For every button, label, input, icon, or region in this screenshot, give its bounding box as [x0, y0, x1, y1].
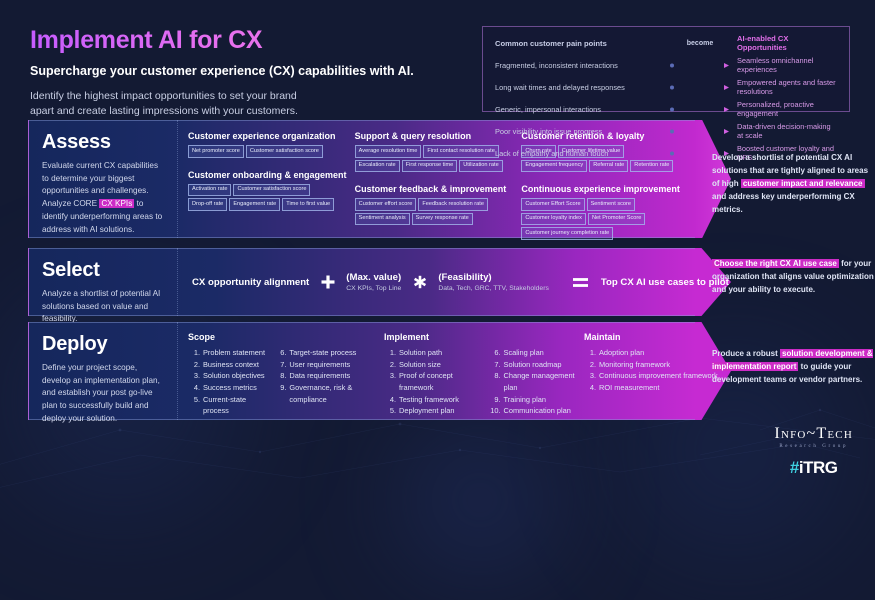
group-tag-list: Customer effort score Feedback resolutio…	[355, 198, 516, 225]
select-stage-description: Analyze a shortlist of potential AI solu…	[42, 288, 163, 326]
assess-desc-highlight: CX KPIs	[99, 199, 134, 208]
kpi-tag[interactable]: Customer journey completion rate	[521, 227, 613, 240]
pain-points-header-middle: become	[663, 40, 737, 47]
list-item: 5.Current-state process	[188, 394, 268, 417]
list-item-label: Success metrics	[203, 382, 257, 394]
select-callout-text: Choose the right CX AI use case for your…	[712, 258, 874, 297]
formula-term-2-label: (Max. value)	[346, 272, 401, 283]
page-title: Implement AI for CX	[30, 26, 414, 55]
list-item-label: Scaling plan	[504, 347, 544, 359]
list-item-label: Training plan	[504, 394, 546, 406]
list-item-number: 4.	[188, 382, 200, 394]
list-item-label: Solution roadmap	[504, 359, 562, 371]
assess-callout-highlight: customer impact and relevance	[741, 179, 865, 188]
list-item: 6.Scaling plan	[489, 347, 584, 359]
deploy-column-implement: Implement 1.Solution path 2.Solution siz…	[384, 332, 584, 414]
deploy-callout-text: Produce a robust solution development & …	[712, 348, 874, 387]
select-stage-name: Select	[42, 259, 163, 282]
deploy-stage-name: Deploy	[42, 333, 163, 356]
group-tag-list: Net promoter score Customer satisfaction…	[188, 145, 349, 158]
equals-icon	[573, 275, 588, 290]
kpi-tag[interactable]: Feedback resolution rate	[418, 198, 488, 211]
assess-callout: Develop a shortlist of potential CX AI s…	[712, 152, 874, 217]
opportunity-label: Seamless omnichannel experiences	[737, 54, 837, 74]
list-item-label: Data requirements	[289, 370, 350, 382]
list-item-label: User requirements	[289, 359, 350, 371]
kpi-tag[interactable]: First response time	[402, 160, 458, 173]
kpi-tag[interactable]: Drop-off rate	[188, 198, 227, 211]
kpi-tag[interactable]: Sentiment score	[587, 198, 635, 211]
list-item-label: Problem statement	[203, 347, 265, 359]
become-arrow-icon	[663, 104, 737, 113]
stage-band-select: Select Analyze a shortlist of potential …	[28, 248, 696, 316]
list-item-number: 3.	[188, 370, 200, 382]
list-item: 2.Business context	[188, 359, 268, 371]
stage-band-deploy: Deploy Define your project scope, develo…	[28, 322, 696, 420]
deploy-scope-lists: 1.Problem statement 2.Business context 3…	[188, 347, 384, 417]
kpi-tag[interactable]: First contact resolution rate	[423, 145, 498, 158]
list-item: 5.Deployment plan	[384, 405, 483, 417]
list-item-number: 2.	[584, 359, 596, 371]
assess-group-column-1: Customer experience organization Net pro…	[188, 131, 355, 230]
pain-point-label: Generic, impersonal interactions	[495, 103, 663, 114]
list-item-label: Governance, risk & compliance	[289, 382, 384, 405]
select-formula: CX opportunity alignment (Max. value) CX…	[178, 248, 696, 316]
formula-term-1: CX opportunity alignment	[192, 277, 309, 288]
page-description: Identify the highest impact opportunitie…	[30, 89, 414, 119]
list-item-number: 7.	[274, 359, 286, 371]
list-item-label: Deployment plan	[399, 405, 454, 417]
page-description-line2: apart and create lasting impressions wit…	[30, 105, 298, 117]
list-item-label: Current-state process	[203, 394, 268, 417]
itrg-logo-name: iTRG	[799, 458, 838, 477]
pain-points-header-right: AI-enabled CX Opportunities	[737, 34, 837, 52]
list-item-number: 9.	[489, 394, 501, 406]
list-item-number: 1.	[384, 347, 396, 359]
assess-callout-part2: and address key underperforming CX metri…	[712, 192, 855, 214]
page-subtitle: Supercharge your customer experience (CX…	[30, 64, 414, 78]
deploy-implement-list-left: 1.Solution path 2.Solution size 3.Proof …	[384, 347, 483, 417]
select-callout-highlight: Choose the right CX AI use case	[712, 259, 839, 268]
deploy-callout: Produce a robust solution development & …	[712, 348, 874, 387]
list-item: 2.Monitoring framework	[584, 359, 718, 371]
list-item-number: 4.	[584, 382, 596, 394]
list-item-label: Continuous improvement framework	[599, 370, 718, 382]
list-item-label: Target-state process	[289, 347, 356, 359]
opportunity-label: Data-driven decision-making at scale	[737, 120, 837, 140]
itrg-logo-hash: #	[790, 458, 799, 477]
kpi-tag[interactable]: Time to first value	[282, 198, 334, 211]
group-title: Customer onboarding & engagement	[188, 170, 349, 180]
list-item-number: 5.	[188, 394, 200, 417]
pain-point-label: Fragmented, inconsistent interactions	[495, 59, 663, 70]
list-item-label: ROI measurement	[599, 382, 659, 394]
kpi-tag[interactable]: Sentiment analysis	[355, 213, 410, 226]
list-item-label: Business context	[203, 359, 259, 371]
deploy-implement-list-right: 6.Scaling plan 7.Solution roadmap 8.Chan…	[489, 347, 584, 417]
list-item-label: Proof of concept framework	[399, 370, 483, 393]
group-title: Continuous experience improvement	[521, 184, 682, 194]
deploy-maintain-list: 1.Adoption plan 2.Monitoring framework 3…	[584, 347, 718, 394]
list-item: 3.Solution objectives	[188, 370, 268, 382]
page-header: Implement AI for CX Supercharge your cus…	[30, 26, 414, 119]
deploy-column-title: Implement	[384, 332, 584, 342]
plus-icon	[320, 275, 335, 290]
list-item-number: 3.	[584, 370, 596, 382]
kpi-tag[interactable]: Customer effort score	[355, 198, 417, 211]
list-item-label: Solution size	[399, 359, 441, 371]
list-item: 3.Proof of concept framework	[384, 370, 483, 393]
page-description-line1: Identify the highest impact opportunitie…	[30, 90, 297, 102]
pain-point-label: Long wait times and delayed responses	[495, 81, 663, 92]
select-stage-column: Select Analyze a shortlist of potential …	[28, 248, 178, 316]
pain-points-grid: Common customer pain points become AI-en…	[495, 34, 837, 162]
deploy-stage-description: Define your project scope, develop an im…	[42, 362, 163, 426]
list-item-label: Adoption plan	[599, 347, 644, 359]
pain-points-panel: Common customer pain points become AI-en…	[482, 26, 850, 112]
select-callout: Choose the right CX AI use case for your…	[712, 258, 874, 297]
kpi-tag[interactable]: Customer satisfaction score	[246, 145, 323, 158]
kpi-tag[interactable]: Net promoter score	[188, 145, 244, 158]
list-item-number: 9.	[274, 382, 286, 405]
group-tag-list: Activation rate Customer satisfaction sc…	[188, 184, 349, 211]
list-item: 10.Communication plan	[489, 405, 584, 417]
group-tag-list: Average resolution time First contact re…	[355, 145, 516, 172]
formula-term-3: (Feasibility) Data, Tech, GRC, TTV, Stak…	[438, 272, 549, 292]
kpi-tag[interactable]: Engagement rate	[229, 198, 280, 211]
group-title: Customer feedback & improvement	[355, 184, 516, 194]
list-item-label: Change management plan	[504, 370, 584, 393]
formula-term-3-label: (Feasibility)	[438, 272, 549, 283]
group-tag-list: Customer Effort Score Sentiment score Cu…	[521, 198, 682, 240]
list-item: 8.Data requirements	[274, 370, 384, 382]
list-item-number: 1.	[584, 347, 596, 359]
list-item: 1.Adoption plan	[584, 347, 718, 359]
list-item: 7.Solution roadmap	[489, 359, 584, 371]
opportunity-label: Personalized, proactive engagement	[737, 98, 837, 118]
list-item: 1.Problem statement	[188, 347, 268, 359]
list-item: 8.Change management plan	[489, 370, 584, 393]
logo-area: Info~Tech Research Group #iTRG	[774, 425, 853, 478]
deploy-columns: Scope 1.Problem statement 2.Business con…	[178, 322, 740, 420]
deploy-stage-column: Deploy Define your project scope, develo…	[28, 322, 178, 420]
deploy-scope-list-right: 6.Target-state process 7.User requiremen…	[274, 347, 384, 417]
list-item: 9.Governance, risk & compliance	[274, 382, 384, 405]
list-item-label: Solution path	[399, 347, 442, 359]
become-arrow-icon	[663, 60, 737, 69]
list-item-number: 2.	[384, 359, 396, 371]
kpi-tag[interactable]: Survey response rate	[412, 213, 473, 226]
pain-points-header-left: Common customer pain points	[495, 39, 663, 48]
list-item-number: 4.	[384, 394, 396, 406]
list-item: 7.User requirements	[274, 359, 384, 371]
list-item: 4.Success metrics	[188, 382, 268, 394]
list-item: 6.Target-state process	[274, 347, 384, 359]
select-band-content: Select Analyze a shortlist of potential …	[28, 248, 696, 316]
list-item-number: 1.	[188, 347, 200, 359]
assess-callout-text: Develop a shortlist of potential CX AI s…	[712, 152, 874, 217]
kpi-tag[interactable]: Average resolution time	[355, 145, 422, 158]
list-item-label: Testing framework	[399, 394, 459, 406]
deploy-implement-lists: 1.Solution path 2.Solution size 3.Proof …	[384, 347, 584, 417]
pain-point-label: Lack of empathy and human touch	[495, 147, 663, 158]
deploy-band-content: Deploy Define your project scope, develo…	[28, 322, 696, 420]
list-item-number: 2.	[188, 359, 200, 371]
list-item-number: 5.	[384, 405, 396, 417]
pain-point-label: Poor visibility into issue progress	[495, 125, 663, 136]
formula-term-2: (Max. value) CX KPIs, Top Line	[346, 272, 401, 292]
list-item-number: 3.	[384, 370, 396, 393]
formula-term-1-label: CX opportunity alignment	[192, 277, 309, 288]
list-item: 4.Testing framework	[384, 394, 483, 406]
kpi-tag[interactable]: Customer satisfaction score	[233, 184, 310, 197]
formula-term-3-sublabel: Data, Tech, GRC, TTV, Stakeholders	[438, 285, 549, 292]
list-item: 4.ROI measurement	[584, 382, 718, 394]
group-title: Support & query resolution	[355, 131, 516, 141]
list-item-number: 8.	[489, 370, 501, 393]
formula-term-2-sublabel: CX KPIs, Top Line	[346, 285, 401, 292]
list-item: 1.Solution path	[384, 347, 483, 359]
assess-stage-name: Assess	[42, 131, 163, 154]
list-item: 3.Continuous improvement framework	[584, 370, 718, 382]
kpi-tag[interactable]: Net Promoter Score	[588, 213, 645, 226]
assess-stage-description: Evaluate current CX capabilities to dete…	[42, 160, 163, 236]
list-item: 2.Solution size	[384, 359, 483, 371]
formula-result-label: Top CX AI use cases to pilot	[601, 277, 729, 288]
deploy-scope-list-left: 1.Problem statement 2.Business context 3…	[188, 347, 268, 417]
deploy-column-scope: Scope 1.Problem statement 2.Business con…	[188, 332, 384, 414]
list-item-number: 6.	[489, 347, 501, 359]
infotech-logo: Info~Tech	[774, 425, 853, 443]
list-item-number: 8.	[274, 370, 286, 382]
list-item-label: Monitoring framework	[599, 359, 670, 371]
infotech-logo-tagline: Research Group	[774, 444, 853, 449]
itrg-logo: #iTRG	[774, 458, 853, 478]
assess-stage-column: Assess Evaluate current CX capabilities …	[28, 120, 178, 238]
kpi-tag[interactable]: Activation rate	[188, 184, 231, 197]
list-item-label: Communication plan	[504, 405, 571, 417]
list-item-label: Solution objectives	[203, 370, 265, 382]
list-item: 9.Training plan	[489, 394, 584, 406]
deploy-callout-part1: Produce a robust	[712, 349, 780, 358]
group-title: Customer experience organization	[188, 131, 349, 141]
asterisk-icon	[412, 275, 427, 290]
kpi-tag[interactable]: Escalation rate	[355, 160, 400, 173]
deploy-column-title: Scope	[188, 332, 384, 342]
opportunity-label: Empowered agents and faster resolutions	[737, 76, 837, 96]
list-item-number: 6.	[274, 347, 286, 359]
kpi-tag[interactable]: Customer Effort Score	[521, 198, 584, 211]
deploy-column-title: Maintain	[584, 332, 734, 342]
become-arrow-icon	[663, 82, 737, 91]
become-arrow-icon	[663, 126, 737, 135]
formula-result: Top CX AI use cases to pilot	[601, 277, 729, 288]
kpi-tag[interactable]: Customer loyalty index	[521, 213, 586, 226]
list-item-number: 10.	[489, 405, 501, 417]
list-item-number: 7.	[489, 359, 501, 371]
